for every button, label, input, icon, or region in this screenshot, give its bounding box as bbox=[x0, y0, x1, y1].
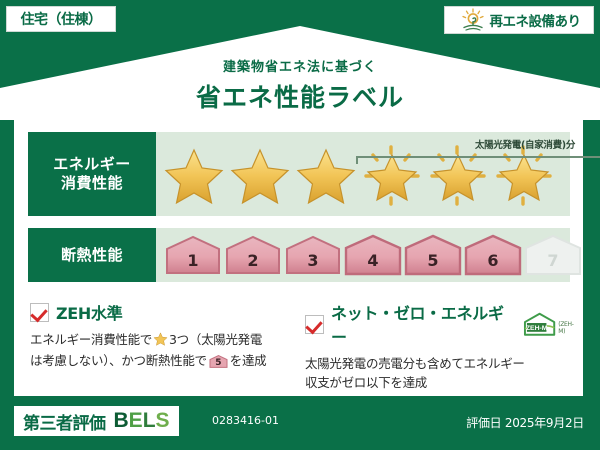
insulation-level-3: 3 bbox=[284, 234, 342, 276]
insulation-level-1-number: 1 bbox=[164, 251, 222, 270]
insulation-level-5-number: 5 bbox=[404, 251, 462, 270]
renewable-equipment-badge: 再エネ設備あり bbox=[444, 6, 594, 34]
building-type-badge-label: 住宅（住棟） bbox=[21, 9, 102, 29]
svg-text:ZEH-M: ZEH-M bbox=[526, 325, 548, 332]
insulation-level-1: 1 bbox=[164, 234, 222, 276]
criterion-net-zero-energy: ネット・ゼロ・エネルギー ZEH-M (ZEH-M) 太陽光発電の売電分も含めて… bbox=[305, 300, 580, 393]
star-1 bbox=[162, 142, 226, 206]
solar-bracket-caption: 太陽光発電(自家消費)分 bbox=[356, 137, 600, 151]
evaluation-date: 評価日 2025年9月2日 bbox=[466, 414, 584, 431]
evaluation-date-value: 2025年9月2日 bbox=[505, 416, 584, 430]
zeh-body-post: を達成 bbox=[230, 353, 267, 368]
energy-label-line1: エネルギー bbox=[53, 155, 131, 174]
criterion-nze-body: 太陽光発電の売電分も含めてエネルギー 収支がゼロ以下を達成 bbox=[305, 354, 580, 393]
zeh-m-logo-caption: (ZEH-M) bbox=[558, 321, 580, 337]
title-block: 建築物省エネ法に基づく 省エネ性能ラベル bbox=[0, 56, 600, 114]
insulation-level-5: 5 bbox=[404, 234, 462, 276]
criterion-nze-head: ネット・ゼロ・エネルギー ZEH-M (ZEH-M) bbox=[305, 300, 580, 348]
building-type-badge: 住宅（住棟） bbox=[6, 6, 116, 32]
inline-house-level-number: 5 bbox=[209, 357, 228, 371]
insulation-level-4-number: 4 bbox=[344, 251, 402, 270]
energy-performance-label: 住宅（住棟） 再エネ設備あり 建築物省エネ法に基づく 省エネ性能ラベル bbox=[0, 0, 600, 450]
third-party-evaluation-label: 第三者評価 bbox=[23, 409, 106, 434]
insulation-performance-row-label: 断熱性能 bbox=[28, 228, 156, 282]
zeh-check-icon bbox=[30, 303, 49, 322]
criterion-zeh-body: エネルギー消費性能で 3つ（太陽光発電は考慮しない）、かつ断熱性能で 5を達成 bbox=[30, 330, 300, 371]
bels-letter-l: L bbox=[143, 409, 156, 432]
certificate-id: 0283416-01 bbox=[212, 414, 279, 427]
bels-letter-b: B bbox=[114, 409, 129, 432]
insulation-rating-area: 1 2 3 4 bbox=[156, 228, 570, 282]
renewable-badge-label: 再エネ設備あり bbox=[490, 10, 581, 30]
zeh-m-house-icon: ZEH-M bbox=[523, 311, 556, 337]
footer-bar: 第三者評価 BELS 0283416-01 評価日 2025年9月2日 bbox=[0, 402, 600, 450]
nze-body-line2: 収支がゼロ以下を達成 bbox=[305, 375, 427, 390]
criterion-nze-title: ネット・ゼロ・エネルギー bbox=[331, 300, 515, 348]
insulation-level-7: 7 bbox=[524, 234, 582, 276]
zeh-body-mid: は考慮しない）、かつ断熱性能で bbox=[30, 353, 207, 368]
insulation-label-text: 断熱性能 bbox=[61, 246, 123, 265]
criterion-zeh-title: ZEH水準 bbox=[56, 300, 122, 324]
label-title: 省エネ性能ラベル bbox=[0, 78, 600, 114]
insulation-level-2-number: 2 bbox=[224, 251, 282, 270]
sun-solar-icon bbox=[460, 8, 486, 32]
insulation-level-2: 2 bbox=[224, 234, 282, 276]
zeh-body-pre: エネルギー消費性能で bbox=[30, 332, 152, 347]
energy-performance-row-label: エネルギー 消費性能 bbox=[28, 132, 156, 216]
insulation-performance-row: 断熱性能 1 2 bbox=[28, 228, 570, 282]
label-subtitle: 建築物省エネ法に基づく bbox=[0, 56, 600, 75]
nze-check-icon bbox=[305, 315, 324, 334]
insulation-level-scale: 1 2 3 4 bbox=[156, 228, 570, 282]
energy-label-line2: 消費性能 bbox=[61, 174, 123, 193]
energy-rating-area: 太陽光発電(自家消費)分 bbox=[156, 132, 570, 216]
bracket-tick-left bbox=[356, 156, 358, 164]
energy-performance-row: エネルギー 消費性能 bbox=[28, 132, 570, 216]
criterion-zeh: ZEH水準 エネルギー消費性能で 3つ（太陽光発電は考慮しない）、かつ断熱性能で… bbox=[30, 300, 300, 371]
insulation-level-3-number: 3 bbox=[284, 251, 342, 270]
bracket-line bbox=[356, 156, 600, 158]
insulation-level-4: 4 bbox=[344, 234, 402, 276]
nze-body-line1: 太陽光発電の売電分も含めてエネルギー bbox=[305, 356, 525, 371]
star-3 bbox=[294, 142, 358, 206]
evaluation-date-label: 評価日 bbox=[466, 416, 501, 430]
star-2 bbox=[228, 142, 292, 206]
solar-generation-bracket: 太陽光発電(自家消費)分 bbox=[356, 138, 600, 162]
bels-wordmark: BELS bbox=[114, 409, 170, 433]
bels-letter-e: E bbox=[129, 409, 143, 432]
zeh-m-logo: ZEH-M (ZEH-M) bbox=[523, 311, 580, 337]
criterion-zeh-head: ZEH水準 bbox=[30, 300, 300, 324]
insulation-level-6-number: 6 bbox=[464, 251, 522, 270]
inline-star-icon bbox=[153, 331, 168, 351]
zeh-body-stars: 3つ（太陽光発電 bbox=[169, 332, 262, 347]
bels-letter-s: S bbox=[156, 409, 170, 432]
insulation-level-7-number: 7 bbox=[524, 251, 582, 270]
bels-certification-mark: 第三者評価 BELS bbox=[14, 406, 179, 436]
insulation-level-6: 6 bbox=[464, 234, 522, 276]
inline-house-level-icon: 5 bbox=[209, 354, 228, 369]
